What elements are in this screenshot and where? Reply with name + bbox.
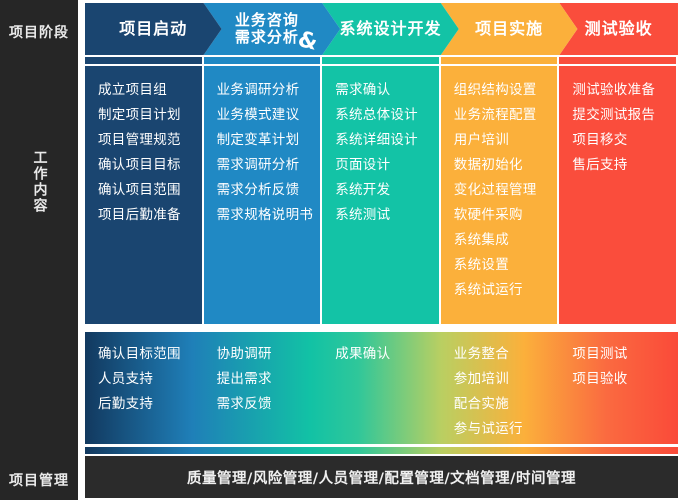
task-item[interactable]: 需求确认 [335,78,439,103]
participation-column-phase-design-development: 成果确认 [322,342,441,367]
phase-task-column-phase-initiation: 成立项目组制定项目计划项目管理规范确认项目目标确认项目范围项目后勤准备 [85,66,202,324]
participation-column-phase-implementation: 业务整合参加培训配合实施参与试运行 [441,342,560,442]
participation-item[interactable]: 协助调研 [217,342,323,367]
sidebar-label-project-management: 项目管理 [0,470,78,490]
phase-header-label: 系统设计开发 [339,20,441,38]
task-item[interactable]: 系统总体设计 [335,103,439,128]
task-item[interactable]: 成立项目组 [98,78,202,103]
phase-strip-phase-consulting-requirements [204,57,321,64]
participation-item[interactable]: 人员支持 [98,367,204,392]
phase-header-label: 项目启动 [119,20,187,38]
ampersand-glyph: & [295,27,321,56]
participation-column-phase-testing-acceptance: 项目测试项目验收 [559,342,678,392]
task-item[interactable]: 系统集成 [454,228,558,253]
participation-item[interactable]: 需求反馈 [217,392,323,417]
task-item[interactable]: 系统开发 [335,178,439,203]
participation-item[interactable]: 确认目标范围 [98,342,204,367]
task-item[interactable]: 数据初始化 [454,153,558,178]
task-item[interactable]: 需求分析反馈 [217,178,321,203]
phase-task-column-phase-design-development: 需求确认系统总体设计系统详细设计页面设计系统开发系统测试 [322,66,439,324]
phase-header-phase-implementation[interactable]: 项目实施 [441,3,578,55]
task-item[interactable]: 售后支持 [572,153,676,178]
phase-header-phase-design-development[interactable]: 系统设计开发 [322,3,459,55]
task-item[interactable]: 系统试运行 [454,278,558,303]
participation-item[interactable]: 业务整合 [454,342,560,367]
task-item[interactable]: 提交测试报告 [572,103,676,128]
project-management-bar: 质量管理/风险管理/人员管理/配置管理/文档管理/时间管理 [85,456,678,498]
phase-strip-phase-design-development [322,57,439,64]
project-management-bar-text: 质量管理/风险管理/人员管理/配置管理/文档管理/时间管理 [187,467,576,488]
task-item[interactable]: 系统详细设计 [335,128,439,153]
left-sidebar: 项目阶段 工作内容 项目管理 [0,0,78,500]
task-item[interactable]: 确认项目目标 [98,153,202,178]
participation-item[interactable]: 配合实施 [454,392,560,417]
task-item[interactable]: 测试验收准备 [572,78,676,103]
task-item[interactable]: 项目管理规范 [98,128,202,153]
phase-strip-phase-initiation [85,57,202,64]
task-item[interactable]: 业务流程配置 [454,103,558,128]
phase-task-column-phase-consulting-requirements: 业务调研分析业务模式建议制定变革计划需求调研分析需求分析反馈需求规格说明书 [204,66,321,324]
task-item[interactable]: 软硬件采购 [454,203,558,228]
task-item[interactable]: 变化过程管理 [454,178,558,203]
participation-item[interactable]: 项目测试 [572,342,678,367]
sidebar-label-project-phase: 项目阶段 [0,22,78,42]
participation-item[interactable]: 参与试运行 [454,417,560,442]
participation-item[interactable]: 项目验收 [572,367,678,392]
participation-item[interactable]: 提出需求 [217,367,323,392]
project-phase-diagram: 项目阶段 工作内容 项目管理 项目启动业务咨询需求分析&系统设计开发项目实施测试… [0,0,678,500]
phase-header-phase-initiation[interactable]: 项目启动 [85,3,222,55]
task-item[interactable]: 业务模式建议 [217,103,321,128]
task-item[interactable]: 项目移交 [572,128,676,153]
phase-task-column-phase-implementation: 组织结构设置业务流程配置用户培训数据初始化变化过程管理软硬件采购系统集成系统设置… [441,66,558,324]
phase-strip-phase-testing-acceptance [559,57,676,64]
participation-item[interactable]: 成果确认 [335,342,441,367]
phase-strip-phase-implementation [441,57,558,64]
phase-header-row: 项目启动业务咨询需求分析&系统设计开发项目实施测试验收 [85,3,678,55]
participation-item[interactable]: 参加培训 [454,367,560,392]
bottom-gradient-strip [85,447,678,454]
task-item[interactable]: 需求规格说明书 [217,203,321,228]
phase-header-line-1: 业务咨询 [235,12,299,29]
task-item[interactable]: 系统测试 [335,203,439,228]
participation-column-phase-consulting-requirements: 协助调研提出需求需求反馈 [204,342,323,417]
participation-gradient-band: 确认目标范围人员支持后勤支持协助调研提出需求需求反馈成果确认业务整合参加培训配合… [85,332,678,444]
task-item[interactable]: 组织结构设置 [454,78,558,103]
task-item[interactable]: 页面设计 [335,153,439,178]
participation-column-phase-initiation: 确认目标范围人员支持后勤支持 [85,342,204,417]
task-item[interactable]: 业务调研分析 [217,78,321,103]
task-item[interactable]: 制定变革计划 [217,128,321,153]
task-item[interactable]: 确认项目范围 [98,178,202,203]
phase-task-column-phase-testing-acceptance: 测试验收准备提交测试报告项目移交售后支持 [559,66,676,324]
task-item[interactable]: 项目后勤准备 [98,203,202,228]
task-item[interactable]: 系统设置 [454,253,558,278]
phase-header-label: 项目实施 [475,20,543,38]
phase-header-line-2: 需求分析 [235,29,299,46]
task-item[interactable]: 用户培训 [454,128,558,153]
phase-header-label: 测试验收 [585,20,653,38]
task-item[interactable]: 需求调研分析 [217,153,321,178]
phase-header-phase-consulting-requirements[interactable]: 业务咨询需求分析& [204,3,341,55]
task-item[interactable]: 制定项目计划 [98,103,202,128]
sidebar-label-work-content: 工作内容 [31,150,46,214]
participation-item[interactable]: 后勤支持 [98,392,204,417]
